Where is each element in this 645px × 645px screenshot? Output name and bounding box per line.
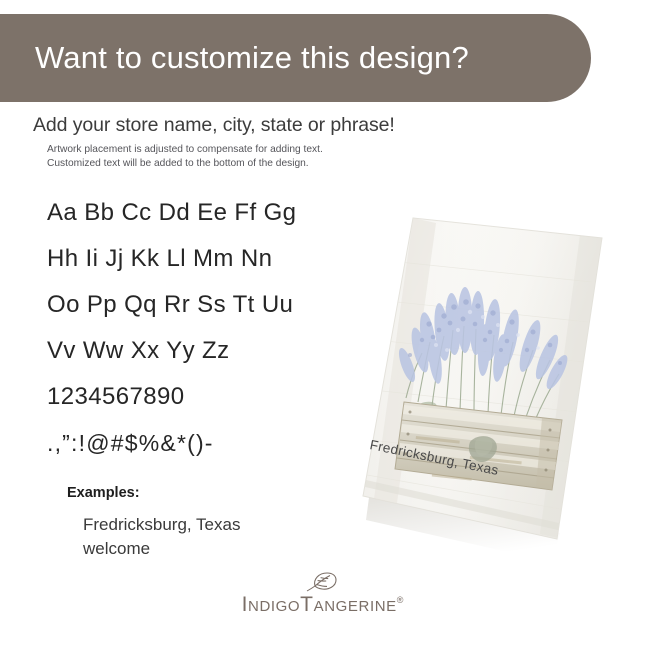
example-item-1: Fredricksburg, Texas bbox=[83, 513, 240, 537]
examples-list: Fredricksburg, Texas welcome bbox=[83, 513, 240, 561]
header-banner: Want to customize this design? bbox=[0, 14, 591, 102]
registered-mark: ® bbox=[397, 595, 404, 605]
leaf-icon bbox=[306, 570, 340, 592]
brand-name: IndigoTangerine® bbox=[242, 593, 404, 617]
specimen-row-uppercase-v-z: Vv Ww Xx Yy Zz bbox=[47, 328, 367, 374]
product-photo-towel: Fredricksburg, Texas bbox=[340, 190, 645, 565]
disclaimer: Artwork placement is adjusted to compens… bbox=[47, 143, 323, 171]
specimen-row-uppercase-o-u: Oo Pp Qq Rr Ss Tt Uu bbox=[47, 282, 367, 328]
page-title: Want to customize this design? bbox=[0, 40, 469, 76]
subtitle: Add your store name, city, state or phra… bbox=[33, 114, 395, 137]
font-specimen: Aa Bb Cc Dd Ee Ff Gg Hh Ii Jj Kk Ll Mm N… bbox=[47, 190, 367, 466]
specimen-row-punctuation: .,”:!@#$%&*()- bbox=[47, 420, 367, 466]
specimen-row-uppercase-a-g: Aa Bb Cc Dd Ee Ff Gg bbox=[47, 190, 367, 236]
disclaimer-line-1: Artwork placement is adjusted to compens… bbox=[47, 143, 323, 157]
disclaimer-line-2: Customized text will be added to the bot… bbox=[47, 157, 323, 171]
specimen-row-uppercase-h-n: Hh Ii Jj Kk Ll Mm Nn bbox=[47, 236, 367, 282]
towel-illustration bbox=[340, 190, 645, 565]
examples-label: Examples: bbox=[67, 485, 140, 501]
brand-name-text: IndigoTangerine bbox=[242, 593, 397, 616]
example-item-2: welcome bbox=[83, 537, 240, 561]
customization-info-card: Want to customize this design? Add your … bbox=[0, 0, 645, 645]
specimen-row-numerals: 1234567890 bbox=[47, 374, 367, 420]
brand-logo: IndigoTangerine® bbox=[0, 570, 645, 617]
